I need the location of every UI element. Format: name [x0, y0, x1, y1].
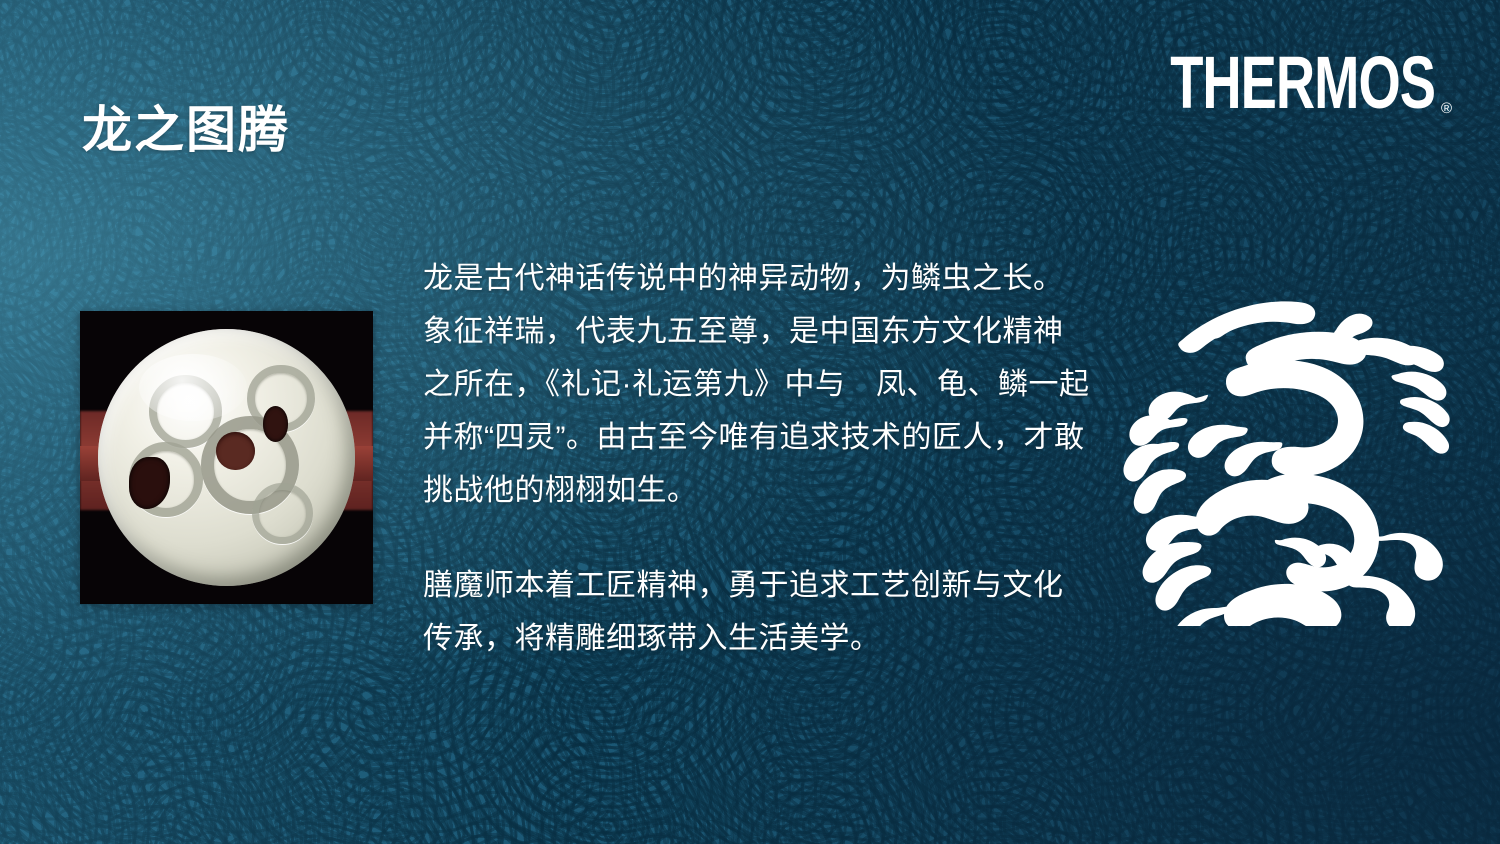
registered-trademark-icon: ® — [1441, 101, 1452, 116]
page-title: 龙之图腾 — [82, 102, 290, 160]
thermos-logo: THERMOS ® — [1162, 64, 1452, 120]
paragraph-2: 膳魔师本着工匠精神，勇于追求工艺创新与文化传承，将精雕细琢带入生活美学。 — [423, 559, 1093, 665]
slide-canvas: 龙之图腾 THERMOS ® 龙是古代神话传说中的神异动物，为鳞虫之长。象征祥瑞… — [0, 0, 1500, 844]
body-text: 龙是古代神话传说中的神异动物，为鳞虫之长。象征祥瑞，代表九五至尊，是中国东方文化… — [423, 252, 1093, 665]
center-hole — [216, 432, 255, 471]
carving-swirl — [252, 483, 312, 543]
paragraph-1: 龙是古代神话传说中的神异动物，为鳞虫之长。象征祥瑞，代表九五至尊，是中国东方文化… — [423, 252, 1093, 517]
jade-disc — [98, 329, 356, 587]
jade-dragon-photo — [80, 311, 373, 604]
chinese-dragon-emblem-icon — [1122, 278, 1458, 626]
carving-opening — [263, 406, 289, 442]
brand-wordmark: THERMOS — [1170, 46, 1435, 120]
